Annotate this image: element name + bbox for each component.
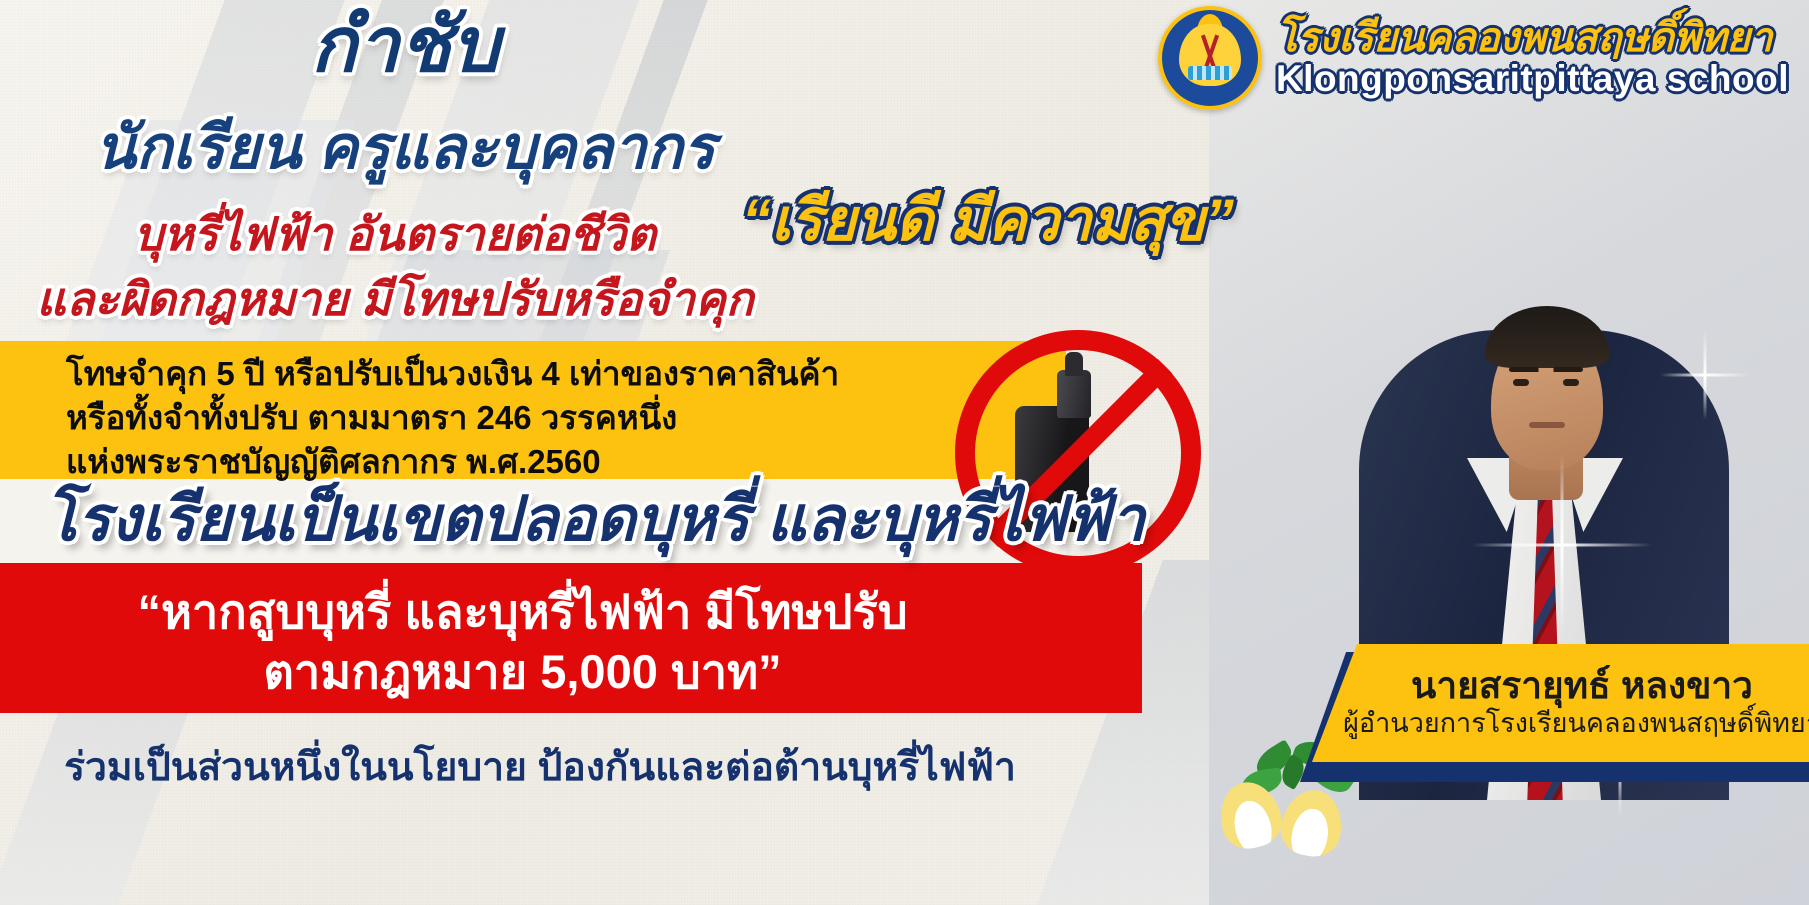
hair bbox=[1485, 306, 1609, 368]
warning-line-one: บุหรี่ไฟฟ้า อันตรายต่อชีวิต bbox=[0, 211, 790, 257]
school-header: โรงเรียนคลองพนสฤษดิ์พิทยา Klongponsaritp… bbox=[1158, 6, 1789, 110]
audience-subtitle: นักเรียน ครูและบุคลากร bbox=[0, 118, 810, 178]
penalty-line: หรือทั้งจำทั้งปรับ ตามมาตรา 246 วรรคหนึ่… bbox=[66, 396, 1026, 440]
school-name-thai: โรงเรียนคลองพนสฤษดิ์พิทยา bbox=[1276, 18, 1789, 60]
anti-vaping-banner: โรงเรียนคลองพนสฤษดิ์พิทยา Klongponsaritp… bbox=[0, 0, 1809, 905]
director-role: ผู้อำนวยการโรงเรียนคลองพนสฤษดิ์พิทยา bbox=[1343, 707, 1809, 739]
eye-left bbox=[1513, 379, 1529, 386]
warning-line-two: และผิดกฎหมาย มีโทษปรับหรือจำคุก bbox=[0, 276, 790, 322]
penalty-line: โทษจำคุก 5 ปี หรือปรับเป็นวงเงิน 4 เท่าข… bbox=[66, 352, 1026, 396]
mouth bbox=[1529, 422, 1565, 428]
page-title: กำชับ bbox=[0, 8, 810, 84]
penalty-line: แห่งพระราชบัญญัติศลกากร พ.ศ.2560 bbox=[66, 440, 1026, 484]
fine-quote-line-two: ตามกฎหมาย 5,000 บาท” bbox=[0, 642, 1045, 702]
school-name-group: โรงเรียนคลองพนสฤษดิ์พิทยา Klongponsaritp… bbox=[1276, 18, 1789, 98]
school-name-english: Klongponsaritpittaya school bbox=[1276, 60, 1789, 98]
school-crest-logo bbox=[1158, 6, 1262, 110]
penalty-text-block: โทษจำคุก 5 ปี หรือปรับเป็นวงเงิน 4 เท่าข… bbox=[66, 352, 1026, 484]
director-nameplate: นายสรายุทธ์ หลงขาว ผู้อำนวยการโรงเรียนคล… bbox=[1312, 644, 1809, 762]
pledge-line: ร่วมเป็นส่วนหนึ่งในนโยบาย ป้องกันและต่อต… bbox=[0, 736, 1080, 798]
director-name: นายสรายุทธ์ หลงขาว bbox=[1411, 666, 1753, 707]
eye-right bbox=[1563, 379, 1579, 386]
school-motto-quote: “เรียนดี มีความสุข” bbox=[742, 192, 1234, 250]
crest-waves bbox=[1188, 66, 1232, 80]
smoke-free-zone-line: โรงเรียนเป็นเขตปลอดบุหรี่ และบุหรี่ไฟฟ้า bbox=[44, 489, 1054, 551]
flower bbox=[1277, 785, 1348, 860]
eyebrows bbox=[1509, 367, 1583, 372]
fine-quote-line-one: “หากสูบบุหรี่ และบุหรี่ไฟฟ้า มีโทษปรับ bbox=[0, 582, 1045, 642]
fine-quote-block: “หากสูบบุหรี่ และบุหรี่ไฟฟ้า มีโทษปรับ ต… bbox=[0, 582, 1045, 701]
